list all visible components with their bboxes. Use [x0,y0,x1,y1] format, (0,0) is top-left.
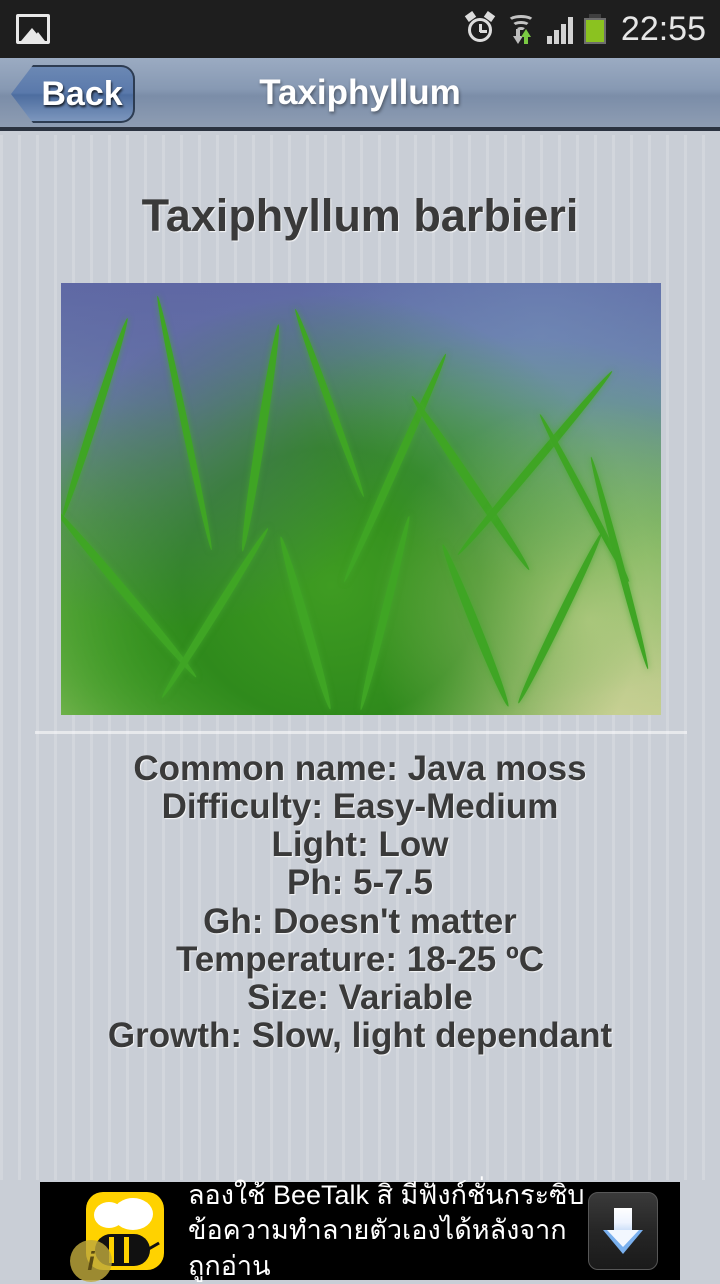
download-arrow-icon[interactable] [588,1192,658,1270]
species-heading: Taxiphyllum barbieri [0,190,720,242]
status-bar-right: 22:55 [465,10,720,49]
ad-banner[interactable]: i ลองใช้ BeeTalk สิ มีฟังก์ชั่นกระซิบ ข้… [40,1182,680,1280]
plant-facts-list: Common name: Java moss Difficulty: Easy-… [0,750,720,1055]
wifi-icon [506,14,536,44]
content-area: Taxiphyllum barbieri Common name: Java m… [0,135,720,1180]
plant-photo [61,283,661,715]
fact-difficulty: Difficulty: Easy-Medium [0,788,720,826]
back-button[interactable]: Back [11,65,135,123]
fact-gh: Gh: Doesn't matter [0,903,720,941]
ad-text: ลองใช้ BeeTalk สิ มีฟังก์ชั่นกระซิบ ข้อค… [188,1178,588,1284]
signal-icon [547,14,573,44]
fact-growth: Growth: Slow, light dependant [0,1017,720,1055]
back-button-label: Back [41,75,122,114]
battery-icon [584,14,606,44]
fact-size: Size: Variable [0,979,720,1017]
fact-temperature: Temperature: 18-25 ºC [0,941,720,979]
status-bar-clock: 22:55 [621,10,706,49]
status-bar: 22:55 [0,0,720,58]
fact-light: Light: Low [0,826,720,864]
ad-icon-wrapper: i [86,1192,164,1270]
status-bar-left [0,14,50,44]
alarm-icon [465,14,495,44]
app-title-bar: Back Taxiphyllum [0,58,720,131]
section-divider [35,731,687,734]
fact-ph: Ph: 5-7.5 [0,864,720,902]
fact-common-name: Common name: Java moss [0,750,720,788]
gallery-icon [16,14,50,44]
adchoices-info-icon[interactable]: i [70,1240,112,1282]
